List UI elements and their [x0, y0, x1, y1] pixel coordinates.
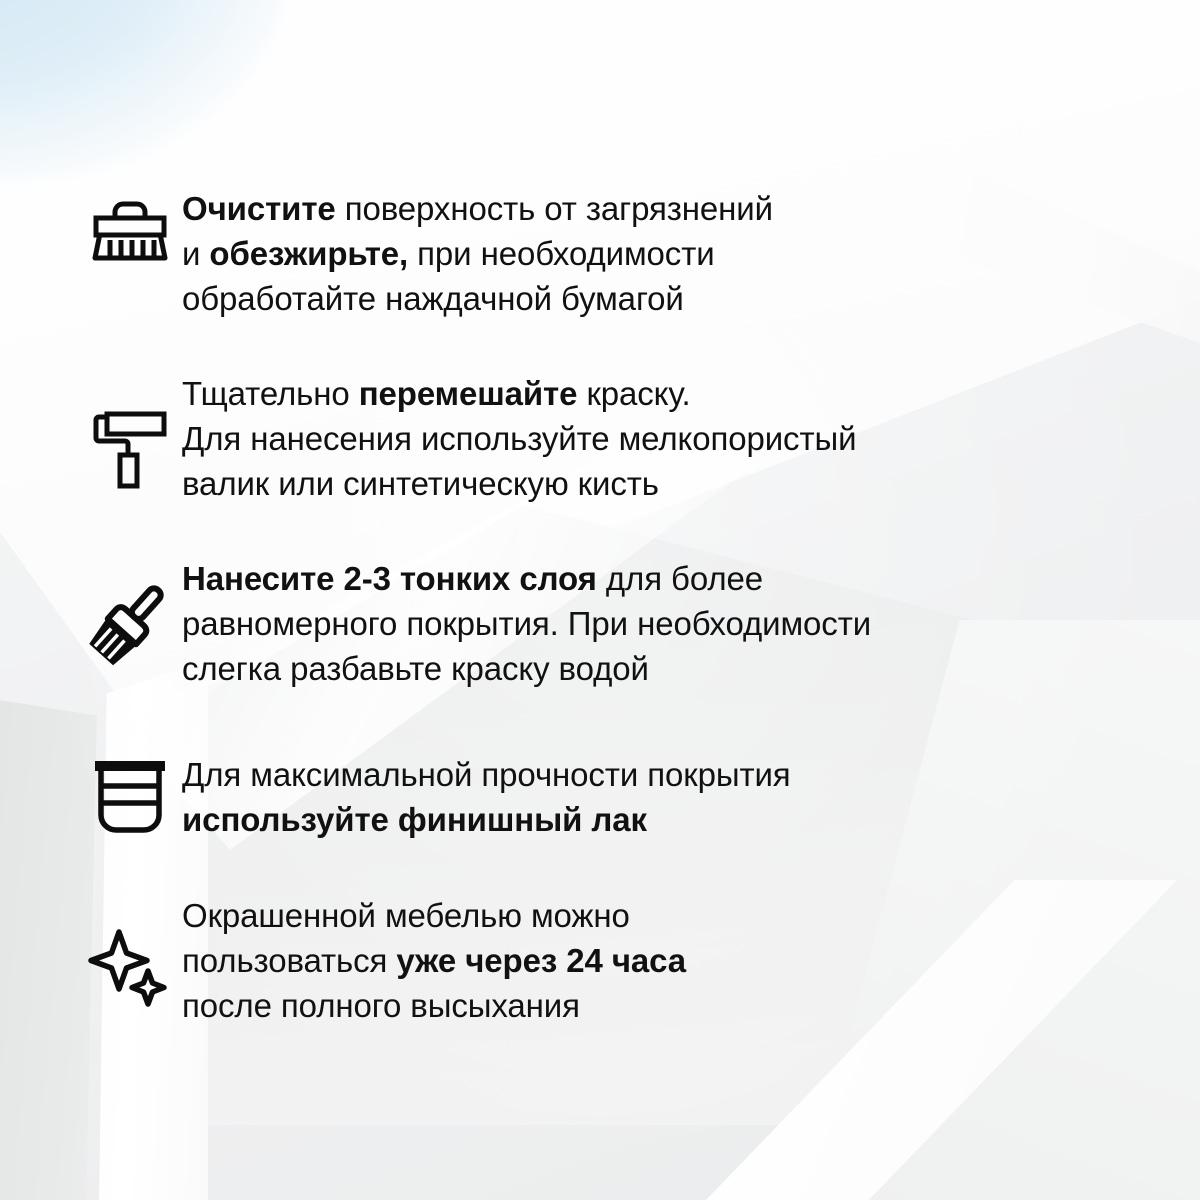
sparkle-icon [82, 893, 178, 1011]
instruction-step-4: Для максимальной прочности покрытияиспол… [82, 752, 791, 842]
scrub-brush-icon [82, 186, 178, 262]
instruction-step-2-text: Тщательно перемешайте краску.Для нанесен… [178, 371, 856, 506]
instruction-step-1-text: Очистите поверхность от загрязненийи обе… [178, 186, 773, 321]
instruction-step-4-text: Для максимальной прочности покрытияиспол… [178, 752, 791, 842]
instruction-step-1: Очистите поверхность от загрязненийи обе… [82, 186, 773, 321]
instruction-step-5-text: Окрашенной мебелью можнопользоваться уже… [178, 893, 686, 1028]
instruction-step-2: Тщательно перемешайте краску.Для нанесен… [82, 371, 856, 506]
paint-can-icon [82, 752, 178, 836]
instruction-step-5: Окрашенной мебелью можнопользоваться уже… [82, 893, 686, 1028]
paint-roller-icon [82, 371, 178, 489]
paint-brush-icon [82, 556, 178, 670]
instruction-step-3-text: Нанесите 2-3 тонких слоя для болееравном… [178, 556, 871, 691]
poster-root: Очистите поверхность от загрязненийи обе… [0, 0, 1200, 1200]
instruction-steps-list: Очистите поверхность от загрязненийи обе… [0, 0, 1200, 1200]
instruction-step-3: Нанесите 2-3 тонких слоя для болееравном… [82, 556, 871, 691]
